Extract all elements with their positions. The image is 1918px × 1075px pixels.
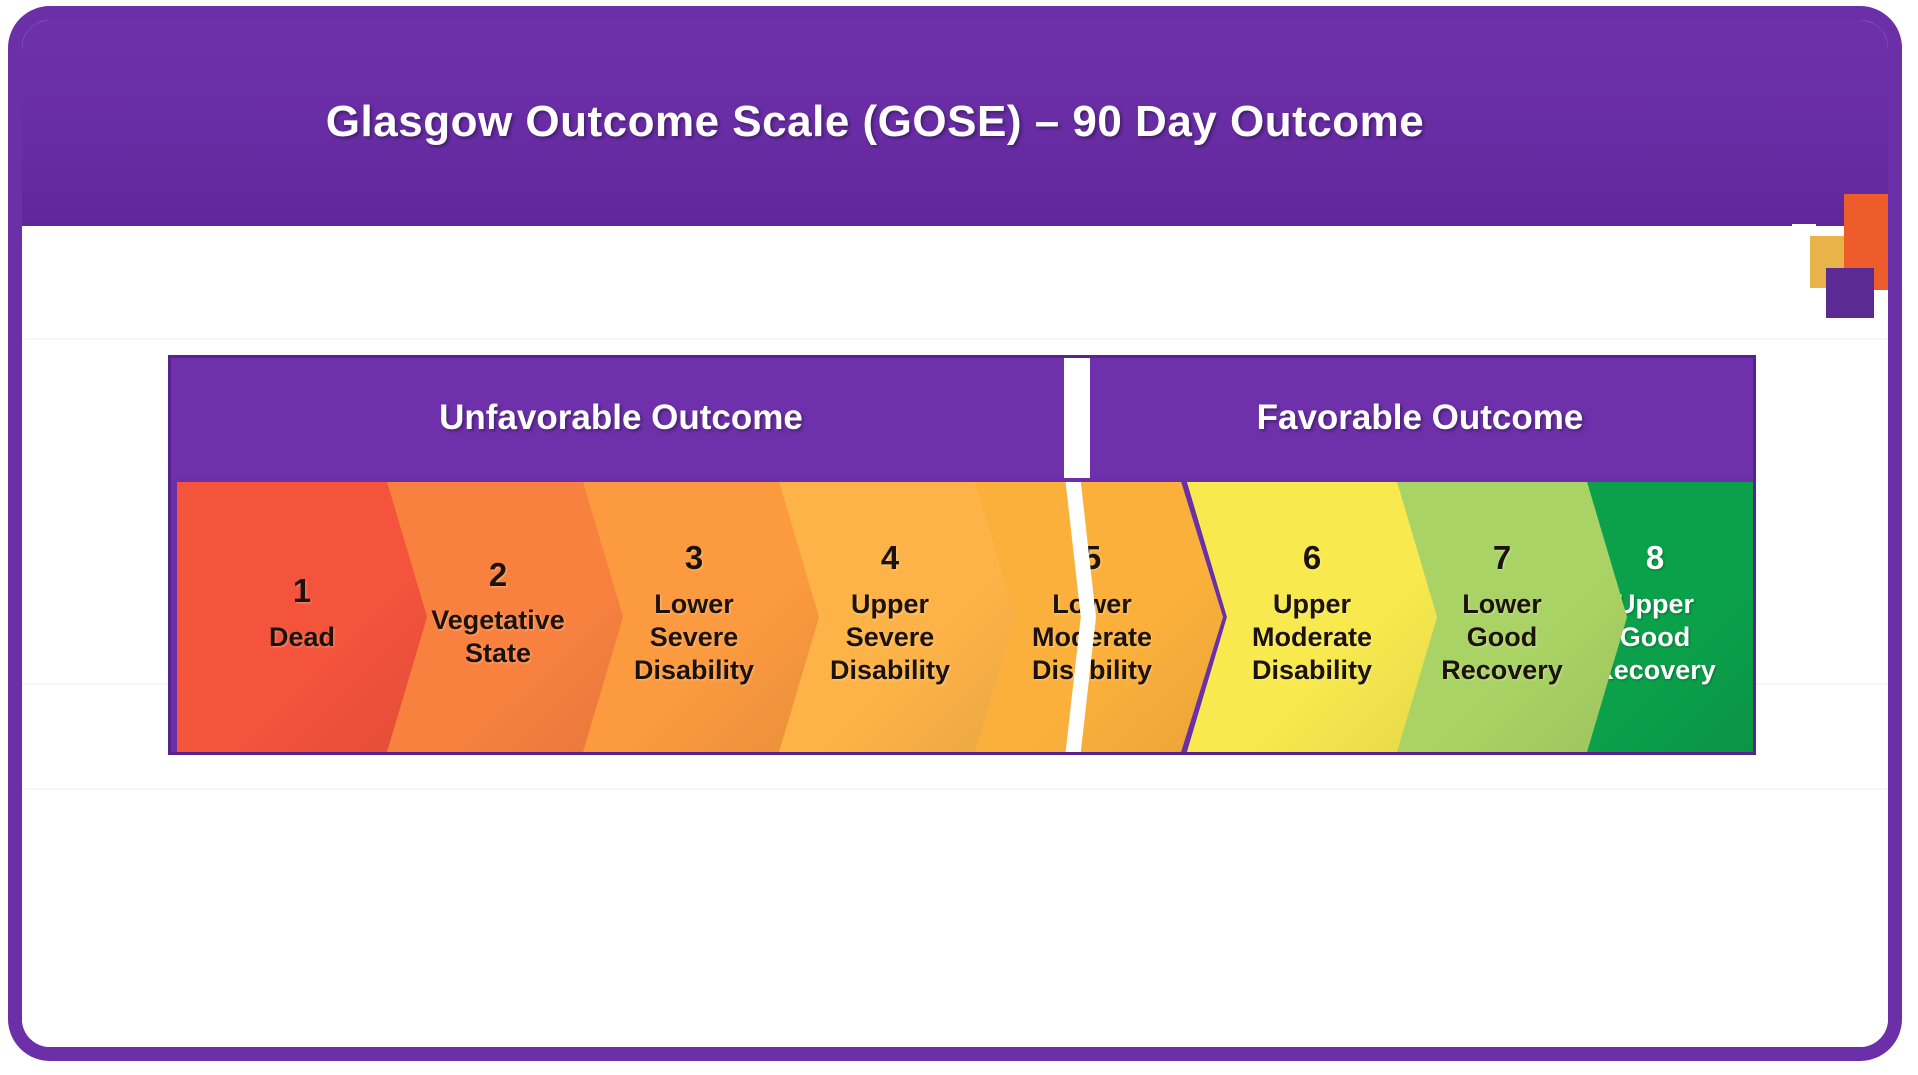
gose-step-3-label: Lower Severe Disability [634, 588, 754, 687]
gose-step-4-label: Upper Severe Disability [830, 588, 950, 687]
gose-step-2-label: Vegetative State [431, 604, 565, 670]
gose-step-2-score: 2 [489, 558, 507, 592]
gose-step-7-label: Lower Good Recovery [1441, 588, 1563, 687]
group-band-favorable: Favorable Outcome [1087, 358, 1753, 478]
gose-step-6-label: Upper Moderate Disability [1252, 588, 1372, 687]
scan-artifact-line [22, 338, 1888, 340]
title-header-bar: Glasgow Outcome Scale (GOSE) – 90 Day Ou… [20, 18, 1890, 226]
gose-step-1[interactable]: 1Dead [177, 482, 427, 752]
gose-step-6-score: 6 [1303, 541, 1321, 575]
gose-scale-chart: Unfavorable Outcome Favorable Outcome 1D… [168, 355, 1756, 755]
group-label-favorable: Favorable Outcome [1257, 398, 1584, 438]
gose-step-3-score: 3 [685, 541, 703, 575]
infographic-card: Glasgow Outcome Scale (GOSE) – 90 Day Ou… [8, 6, 1902, 1061]
gose-step-6[interactable]: 6Upper Moderate Disability [1187, 482, 1437, 752]
outcome-group-bands: Unfavorable Outcome Favorable Outcome [171, 358, 1753, 478]
group-band-divider [1064, 358, 1090, 478]
group-band-unfavorable: Unfavorable Outcome [171, 358, 1071, 478]
gose-step-1-score: 1 [293, 574, 311, 608]
gose-step-8-score: 8 [1646, 541, 1664, 575]
gose-step-7-score: 7 [1493, 541, 1511, 575]
gose-arrow-row: 1Dead2Vegetative State3Lower Severe Disa… [177, 482, 1753, 752]
gose-step-4-score: 4 [881, 541, 899, 575]
logo-square-purple [1826, 268, 1874, 318]
page-title: Glasgow Outcome Scale (GOSE) – 90 Day Ou… [326, 97, 1424, 147]
chart-body: Unfavorable Outcome Favorable Outcome 1D… [22, 228, 1888, 1048]
group-label-unfavorable: Unfavorable Outcome [439, 398, 803, 438]
scan-artifact-line [22, 788, 1888, 790]
corner-logo-mark [1792, 194, 1902, 324]
gose-step-1-label: Dead [269, 621, 335, 654]
